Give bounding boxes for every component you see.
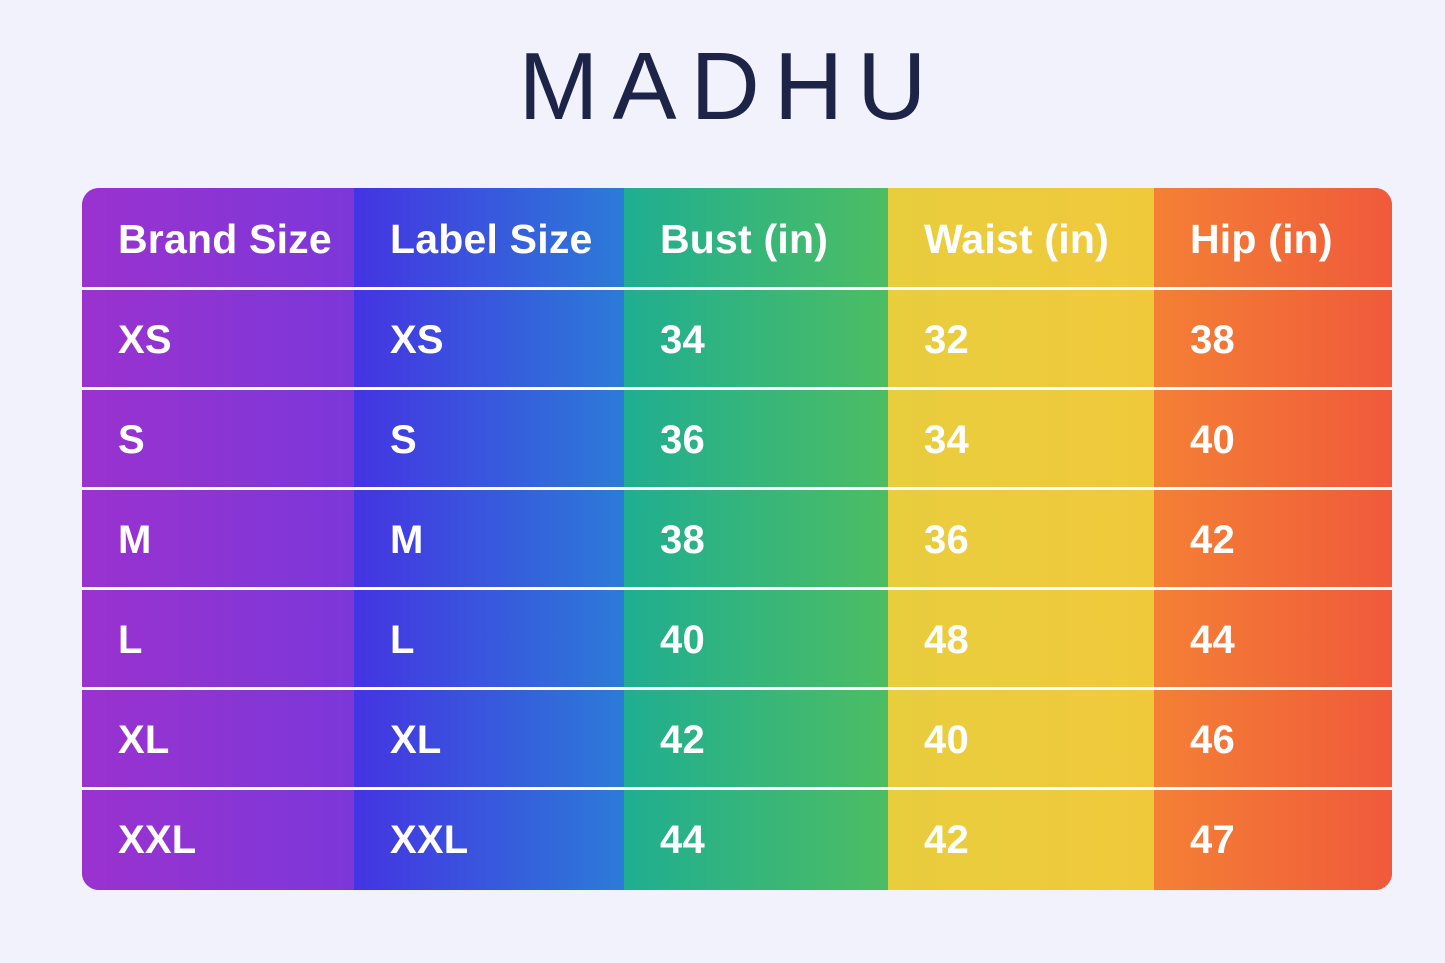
cell-brand-size: M — [82, 490, 354, 590]
cell-hip: 46 — [1154, 690, 1392, 790]
cell-brand-size: XXL — [82, 790, 354, 890]
table-row: S S 36 34 40 — [82, 390, 1392, 490]
cell-bust: 40 — [624, 590, 888, 690]
table-row: XXL XXL 44 42 47 — [82, 790, 1392, 890]
cell-hip: 47 — [1154, 790, 1392, 890]
cell-brand-size: XS — [82, 290, 354, 390]
table-row: M M 38 36 42 — [82, 490, 1392, 590]
column-header-waist: Waist (in) — [888, 188, 1154, 290]
cell-hip: 40 — [1154, 390, 1392, 490]
page-title: MADHU — [0, 34, 1445, 140]
table-row: XL XL 42 40 46 — [82, 690, 1392, 790]
cell-label-size: XXL — [354, 790, 624, 890]
cell-bust: 38 — [624, 490, 888, 590]
cell-waist: 36 — [888, 490, 1154, 590]
cell-bust: 34 — [624, 290, 888, 390]
cell-hip: 44 — [1154, 590, 1392, 690]
cell-waist: 48 — [888, 590, 1154, 690]
cell-label-size: M — [354, 490, 624, 590]
cell-waist: 32 — [888, 290, 1154, 390]
cell-bust: 36 — [624, 390, 888, 490]
cell-brand-size: L — [82, 590, 354, 690]
column-header-hip: Hip (in) — [1154, 188, 1392, 290]
table-header-row: Brand Size Label Size Bust (in) Waist (i… — [82, 188, 1392, 290]
cell-label-size: XS — [354, 290, 624, 390]
cell-bust: 44 — [624, 790, 888, 890]
cell-hip: 38 — [1154, 290, 1392, 390]
cell-label-size: S — [354, 390, 624, 490]
cell-brand-size: S — [82, 390, 354, 490]
cell-waist: 40 — [888, 690, 1154, 790]
column-header-brand-size: Brand Size — [82, 188, 354, 290]
column-header-label-size: Label Size — [354, 188, 624, 290]
cell-label-size: L — [354, 590, 624, 690]
table-row: XS XS 34 32 38 — [82, 290, 1392, 390]
cell-brand-size: XL — [82, 690, 354, 790]
table-row: L L 40 48 44 — [82, 590, 1392, 690]
cell-bust: 42 — [624, 690, 888, 790]
cell-waist: 42 — [888, 790, 1154, 890]
size-chart-table: Brand Size Label Size Bust (in) Waist (i… — [82, 188, 1392, 890]
size-chart-page: MADHU Brand Size Label Size Bust (in) Wa… — [0, 0, 1445, 963]
cell-hip: 42 — [1154, 490, 1392, 590]
cell-label-size: XL — [354, 690, 624, 790]
column-header-bust: Bust (in) — [624, 188, 888, 290]
cell-waist: 34 — [888, 390, 1154, 490]
